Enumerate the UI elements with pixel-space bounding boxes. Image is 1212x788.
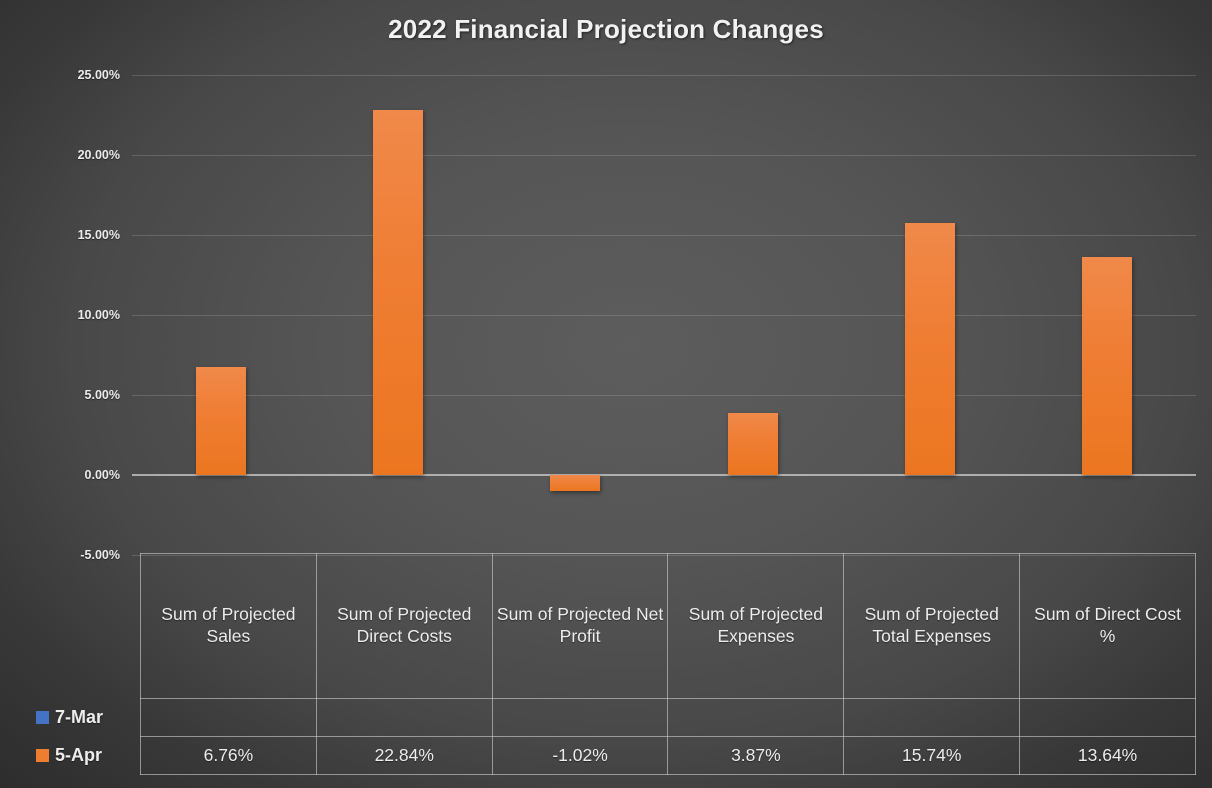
legend-label: 5-Apr	[55, 745, 102, 765]
table-header-row: Sum of Projected SalesSum of Projected D…	[30, 554, 1196, 699]
chart-title: 2022 Financial Projection Changes	[0, 14, 1212, 45]
table-row: 5-Apr6.76%22.84%-1.02%3.87%15.74%13.64%	[30, 737, 1196, 775]
table-cell	[668, 699, 844, 737]
legend-swatch-icon	[36, 711, 49, 724]
y-tick-label: 5.00%	[85, 388, 120, 402]
table-cell: 3.87%	[668, 737, 844, 775]
table-column-header: Sum of Projected Sales	[141, 554, 317, 699]
table-column-header: Sum of Projected Net Profit	[492, 554, 668, 699]
gridline	[132, 315, 1196, 316]
bar	[196, 367, 246, 475]
y-tick-label: 10.00%	[78, 308, 120, 322]
chart-canvas: 2022 Financial Projection Changes AXIS T…	[0, 0, 1212, 788]
data-table: Sum of Projected SalesSum of Projected D…	[30, 553, 1196, 775]
bar	[373, 110, 423, 475]
bar	[905, 223, 955, 475]
gridline	[132, 155, 1196, 156]
table-cell	[316, 699, 492, 737]
table-body: 7-Mar5-Apr6.76%22.84%-1.02%3.87%15.74%13…	[30, 699, 1196, 775]
table-row: 7-Mar	[30, 699, 1196, 737]
bar	[550, 475, 600, 491]
zero-axis-line	[132, 474, 1196, 476]
gridline	[132, 395, 1196, 396]
bar	[728, 413, 778, 475]
y-tick-label: 15.00%	[78, 228, 120, 242]
table-cell	[492, 699, 668, 737]
table-cell: 22.84%	[316, 737, 492, 775]
gridline	[132, 75, 1196, 76]
gridline	[132, 235, 1196, 236]
table-column-header: Sum of Projected Expenses	[668, 554, 844, 699]
table-cell: -1.02%	[492, 737, 668, 775]
table-cell	[141, 699, 317, 737]
legend-label: 7-Mar	[55, 707, 103, 727]
table-cell	[844, 699, 1020, 737]
y-tick-label: 0.00%	[85, 468, 120, 482]
y-tick-label: 25.00%	[78, 68, 120, 82]
table-column-header: Sum of Direct Cost %	[1020, 554, 1196, 699]
bar	[1082, 257, 1132, 475]
legend-entry[interactable]: 7-Mar	[30, 699, 141, 737]
legend-swatch-icon	[36, 749, 49, 762]
legend-entry[interactable]: 5-Apr	[30, 737, 141, 775]
table-cell: 13.64%	[1020, 737, 1196, 775]
table-cell: 15.74%	[844, 737, 1020, 775]
table-column-header: Sum of Projected Total Expenses	[844, 554, 1020, 699]
table-cell: 6.76%	[141, 737, 317, 775]
y-tick-label: 20.00%	[78, 148, 120, 162]
plot-area: 25.00%20.00%15.00%10.00%5.00%0.00%-5.00%	[132, 75, 1196, 475]
table-corner-cell	[30, 554, 141, 699]
table-column-header: Sum of Projected Direct Costs	[316, 554, 492, 699]
table-cell	[1020, 699, 1196, 737]
